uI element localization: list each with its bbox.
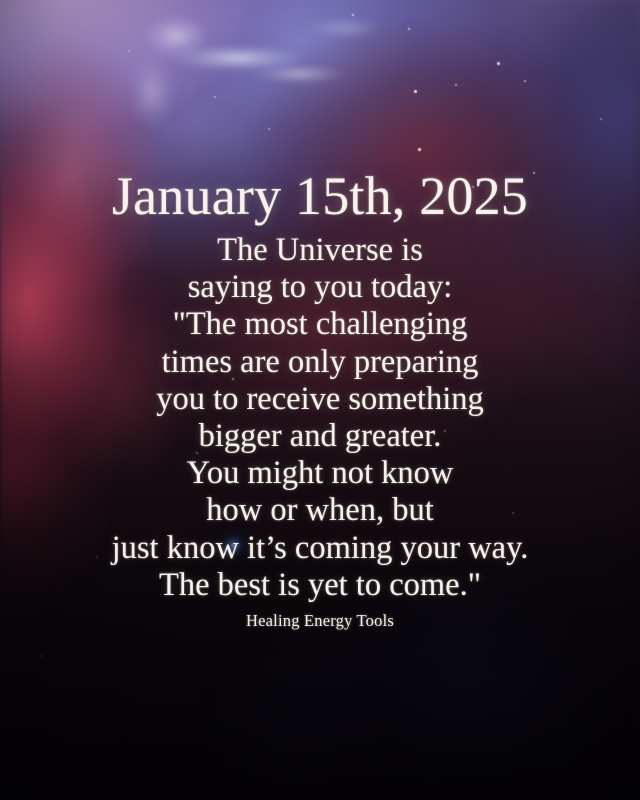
quote-line: how or when, but [0,492,640,529]
attribution-label: Healing Energy Tools [0,611,640,631]
quote-line: The Universe is [0,232,640,269]
quote-line: times are only preparing [0,344,640,381]
quote-text: The Universe is saying to you today: "Th… [0,232,640,604]
quote-line: The best is yet to come." [0,567,640,604]
quote-poster: January 15th, 2025 The Universe is sayin… [0,0,640,800]
quote-line: "The most challenging [0,306,640,343]
page-title: January 15th, 2025 [0,168,640,225]
quote-line: bigger and greater. [0,418,640,455]
poster-content: January 15th, 2025 The Universe is sayin… [0,0,640,800]
quote-line: you to receive something [0,381,640,418]
quote-line: just know it’s coming your way. [0,530,640,567]
quote-line: You might not know [0,455,640,492]
quote-line: saying to you today: [0,269,640,306]
